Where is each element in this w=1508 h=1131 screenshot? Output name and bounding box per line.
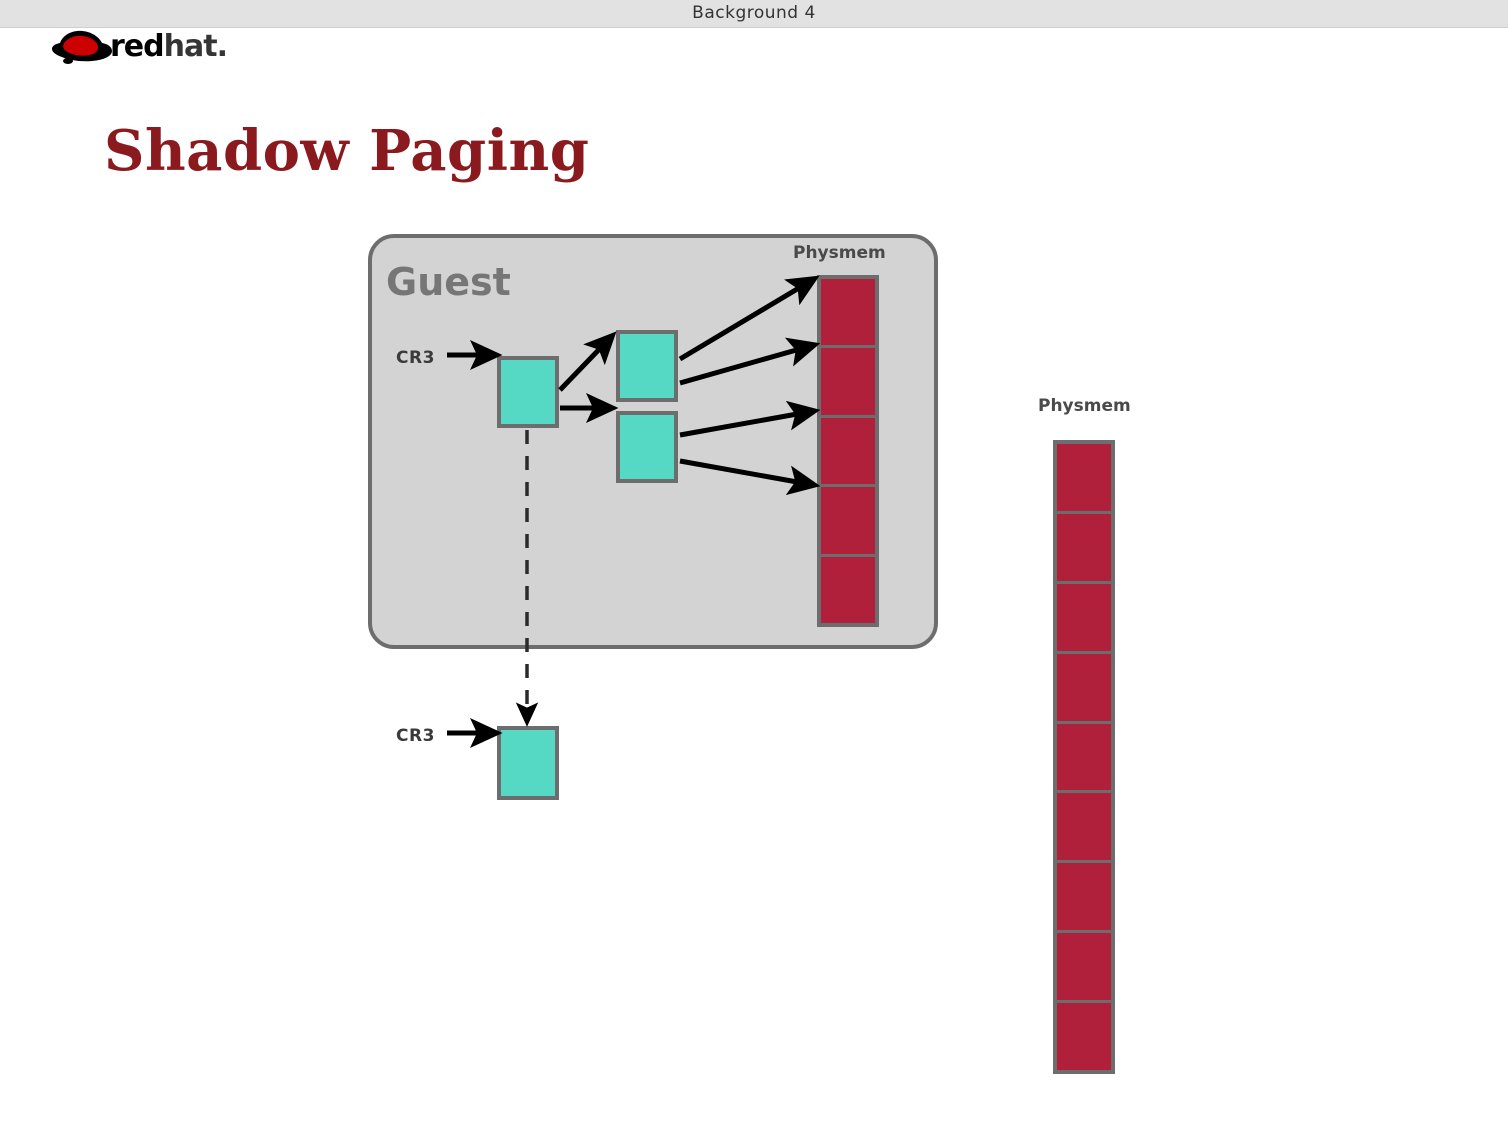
physmem-cell [821, 557, 875, 623]
guest-upper-page-table [616, 330, 678, 402]
physmem-cell [1057, 514, 1111, 584]
physmem-host-label: Physmem [1038, 396, 1131, 416]
guest-label: Guest [386, 260, 511, 304]
physmem-cell [821, 279, 875, 348]
physmem-cell [1057, 933, 1111, 1003]
shadow-paging-diagram: Guest CR3 CR3 Physmem Physmem [0, 0, 1508, 1131]
physmem-guest-label: Physmem [793, 243, 886, 263]
physmem-host-column [1053, 440, 1115, 1074]
guest-root-page-table [497, 356, 559, 428]
cr3-guest-label: CR3 [396, 348, 435, 368]
physmem-cell [1057, 793, 1111, 863]
physmem-cell [821, 348, 875, 417]
physmem-cell [821, 418, 875, 487]
physmem-cell [1057, 863, 1111, 933]
physmem-cell [1057, 724, 1111, 794]
physmem-cell [1057, 584, 1111, 654]
physmem-cell [1057, 654, 1111, 724]
physmem-cell [1057, 1003, 1111, 1070]
cr3-shadow-label: CR3 [396, 726, 435, 746]
physmem-guest-column [817, 275, 879, 627]
guest-lower-page-table [616, 411, 678, 483]
physmem-cell [1057, 444, 1111, 514]
physmem-cell [821, 487, 875, 556]
shadow-root-page-table [497, 726, 559, 800]
